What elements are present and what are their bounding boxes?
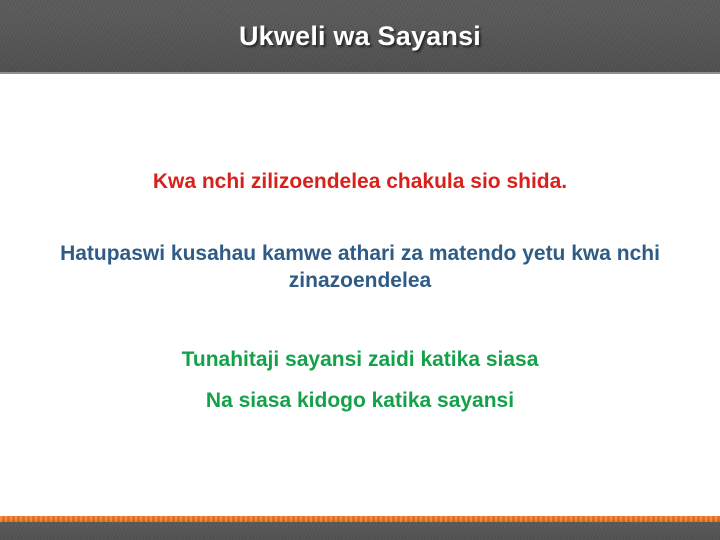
slide-title-band: Ukweli wa Sayansi [0, 0, 720, 74]
body-line-red: Kwa nchi zilizoendelea chakula sio shida… [40, 168, 680, 195]
body-line-green-first: Tunahitaji sayansi zaidi katika siasa [40, 346, 680, 373]
footer-band [0, 522, 720, 540]
body-line-blue: Hatupaswi kusahau kamwe athari za matend… [40, 240, 680, 295]
page-title: Ukweli wa Sayansi [239, 23, 481, 50]
slide-body: Kwa nchi zilizoendelea chakula sio shida… [0, 74, 720, 517]
body-line-green-second: Na siasa kidogo katika sayansi [40, 387, 680, 414]
presentation-slide: Ukweli wa Sayansi Kwa nchi zilizoendelea… [0, 0, 720, 540]
